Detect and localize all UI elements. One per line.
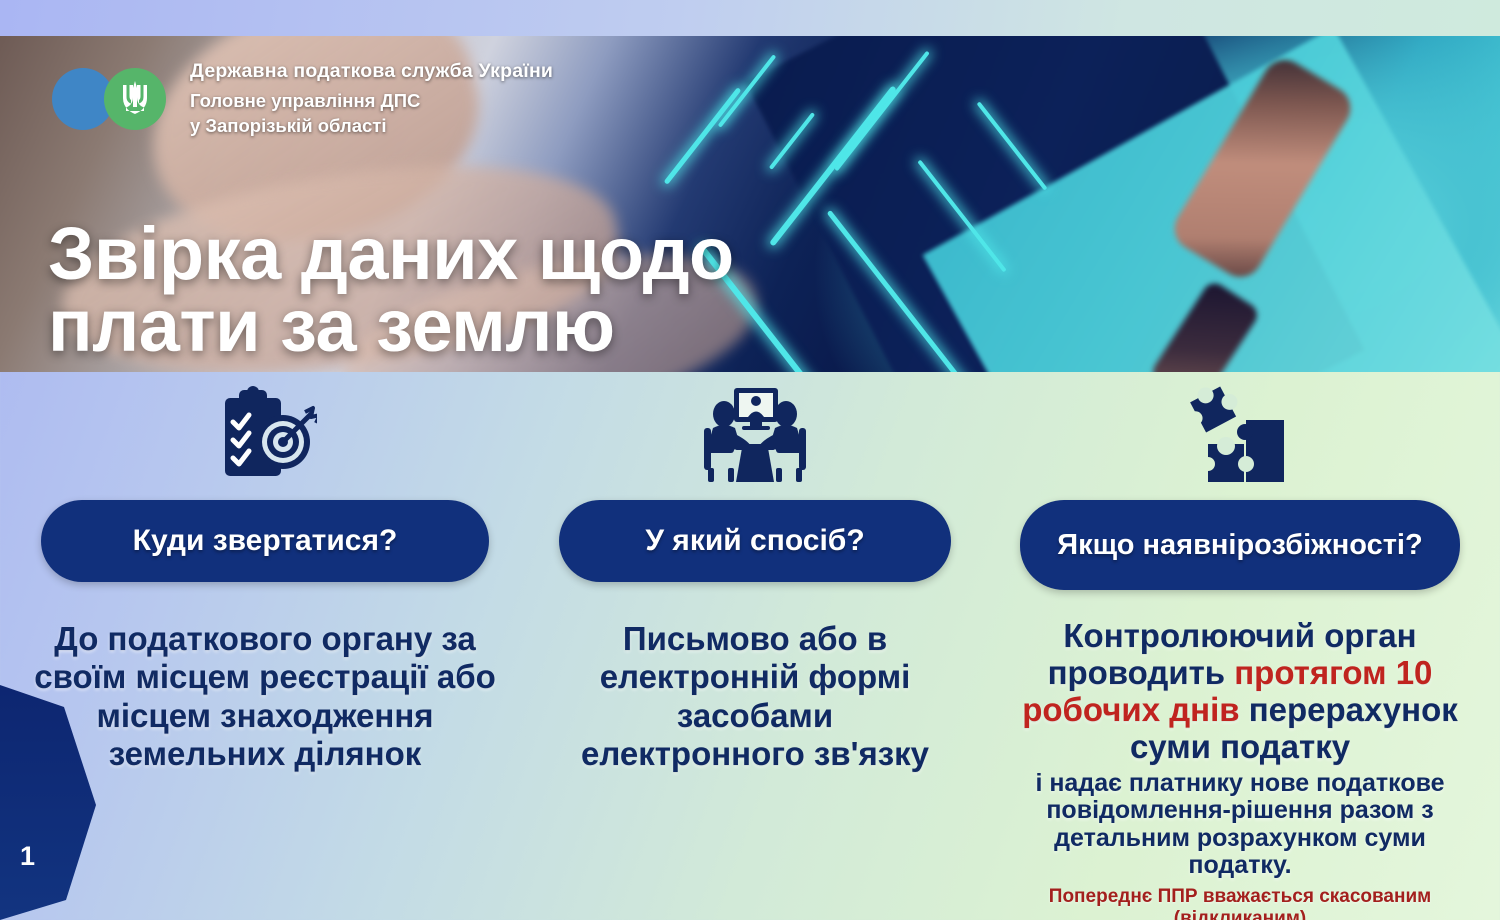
body-text-in-what-way: Письмово або в електронній формі засобам… [575,620,935,773]
header-banner: Державна податкова служба України Головн… [0,36,1500,372]
body-text-where-to-apply: До податкового органу за своїм місцем ре… [30,620,500,773]
pill-if-discrepancies-line-2: розбіжності? [1236,529,1422,561]
page-title: Звірка даних щодо плати за землю [48,218,734,362]
meeting-video-call-icon [530,382,980,482]
logo-green-circle [104,68,166,130]
column-if-discrepancies: Якщо наявні розбіжності? Контролюючий ор… [980,372,1500,920]
page-number: 1 [20,841,35,872]
body-text-if-discrepancies: Контролюючий орган проводить протягом 10… [995,618,1485,766]
pill-where-to-apply[interactable]: Куди звертатися? [41,500,489,582]
page-title-line-2: плати за землю [48,290,734,362]
logo-line-2: Головне управління ДПС [190,90,553,112]
pill-if-discrepancies[interactable]: Якщо наявні розбіжності? [1020,500,1460,590]
logo-line-3: у Запорізькій області [190,115,553,137]
puzzle-pieces-icon [980,382,1500,482]
logo-text-block: Державна податкова служба України Головн… [190,60,553,137]
page-title-line-1: Звірка даних щодо [48,218,734,290]
content-columns: Куди звертатися? До податкового органу з… [0,372,1500,920]
column-in-what-way: У який спосіб? Письмово або в електронні… [530,372,980,920]
organization-logo: Державна податкова служба України Головн… [52,60,553,137]
clipboard-target-icon [0,382,530,482]
pill-if-discrepancies-line-1: Якщо наявні [1057,529,1236,561]
pill-in-what-way[interactable]: У який спосіб? [559,500,951,582]
body-subtext-if-discrepancies: і надає платнику нове податкове повідомл… [1005,770,1475,880]
top-decorative-strip [0,0,1500,36]
trident-icon [120,80,150,118]
logo-line-1: Державна податкова служба України [190,60,553,83]
body-note-if-discrepancies: Попереднє ППР вважається скасованим (від… [1005,886,1475,920]
